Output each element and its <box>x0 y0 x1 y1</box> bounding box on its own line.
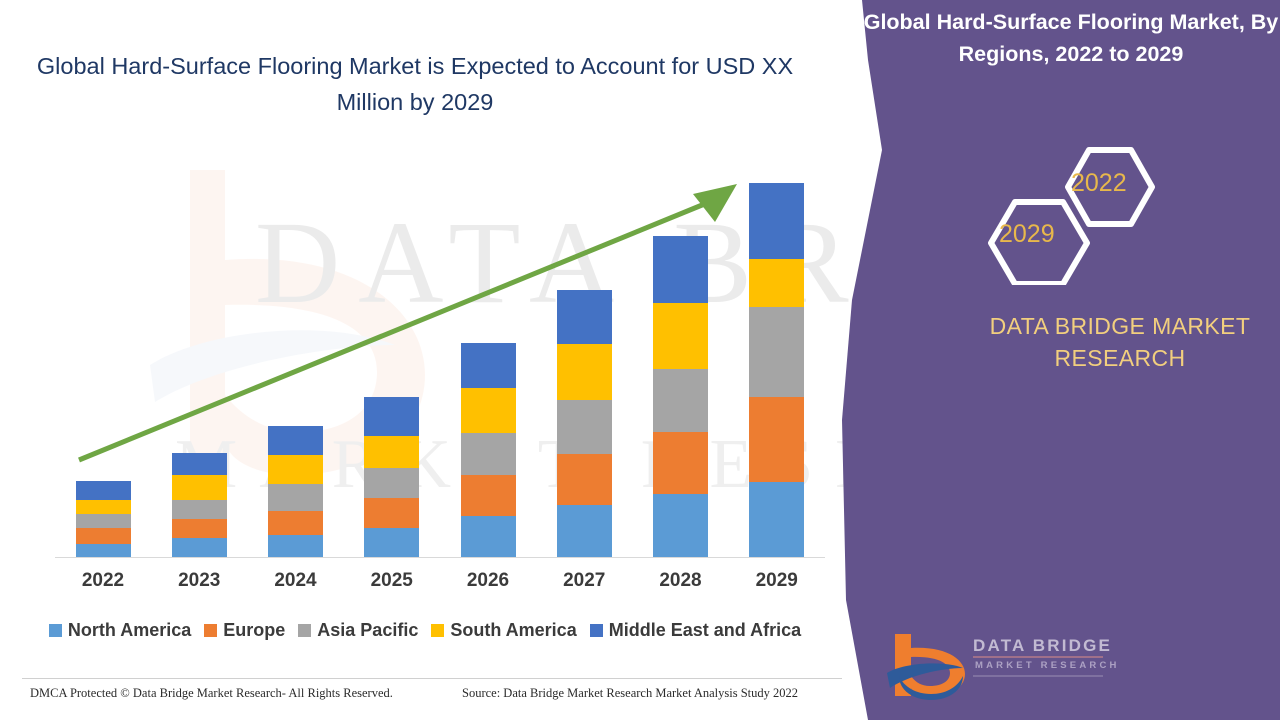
hexagon-badges: 2022 2029 <box>985 140 1185 285</box>
footer-divider <box>22 678 842 679</box>
bar-segment <box>364 468 419 497</box>
brand-name: DATA BRIDGE MARKET RESEARCH <box>960 310 1280 374</box>
bar-segment <box>76 514 131 528</box>
infographic-canvas: DATA BRIDGE MARKET RESEARCH Global Hard-… <box>0 0 1280 720</box>
legend-swatch <box>431 624 444 637</box>
bar-segment <box>653 369 708 432</box>
legend-item[interactable]: Asia Pacific <box>298 620 418 641</box>
bar-column <box>364 397 419 558</box>
x-axis-label: 2023 <box>151 570 247 592</box>
bar-segment <box>461 433 516 475</box>
bar-segment <box>557 400 612 454</box>
x-axis-line <box>55 557 825 558</box>
bar-segment <box>364 397 419 436</box>
bar-column <box>653 236 708 558</box>
bar-segment <box>461 475 516 515</box>
x-axis-label: 2024 <box>248 570 344 592</box>
panel-title: Global Hard-Surface Flooring Market, By … <box>862 6 1280 70</box>
bar-segment <box>653 303 708 369</box>
bar-segment <box>268 455 323 484</box>
legend-item[interactable]: Middle East and Africa <box>590 620 801 641</box>
chart-legend: North AmericaEuropeAsia PacificSouth Ame… <box>0 615 850 645</box>
bar-column <box>749 183 804 558</box>
x-axis-label: 2029 <box>729 570 825 592</box>
bar-segment <box>653 236 708 304</box>
bar-segment <box>76 544 131 558</box>
bar-segment <box>461 516 516 558</box>
bar-segment <box>268 511 323 535</box>
bar-segment <box>653 432 708 493</box>
bar-column <box>268 426 323 558</box>
legend-swatch <box>49 624 62 637</box>
bar-segment <box>172 500 227 519</box>
legend-item[interactable]: North America <box>49 620 191 641</box>
legend-label: North America <box>68 620 191 641</box>
bar-segment <box>76 500 131 514</box>
logo-text-sub: MARKET RESEARCH <box>975 660 1120 671</box>
bar-segment <box>268 426 323 455</box>
bar-segment <box>749 183 804 259</box>
bar-column <box>461 343 516 558</box>
bar-segment <box>557 505 612 558</box>
legend-label: Europe <box>223 620 285 641</box>
legend-swatch <box>204 624 217 637</box>
hex-badge-lower-label: 2029 <box>999 220 1055 249</box>
bar-segment <box>76 481 131 499</box>
bar-segment <box>364 498 419 528</box>
bar-segment <box>172 538 227 558</box>
brand-logo: DATA BRIDGE MARKET RESEARCH <box>885 630 1115 700</box>
legend-item[interactable]: Europe <box>204 620 285 641</box>
bar-segment <box>172 475 227 499</box>
bar-segment <box>749 259 804 307</box>
bar-segment <box>268 535 323 558</box>
bar-segment <box>557 344 612 399</box>
bar-segment <box>461 388 516 433</box>
legend-swatch <box>298 624 311 637</box>
bar-segment <box>364 436 419 468</box>
logo-text-main: DATA BRIDGE <box>973 636 1112 656</box>
footer-source: Source: Data Bridge Market Research Mark… <box>462 686 798 701</box>
plot-area <box>55 175 825 558</box>
bar-segment <box>172 519 227 538</box>
x-axis-label: 2025 <box>344 570 440 592</box>
bar-segment <box>461 343 516 387</box>
bar-segment <box>364 528 419 558</box>
legend-label: South America <box>450 620 576 641</box>
bar-segment <box>749 397 804 483</box>
hex-badge-upper-label: 2022 <box>1071 169 1127 198</box>
legend-item[interactable]: South America <box>431 620 576 641</box>
bar-column <box>172 453 227 558</box>
bar-column <box>557 290 612 558</box>
chart <box>0 0 860 600</box>
bar-segment <box>653 494 708 559</box>
x-axis-label: 2028 <box>633 570 729 592</box>
bar-segment <box>76 528 131 544</box>
x-axis-label: 2027 <box>536 570 632 592</box>
bar-segment <box>557 454 612 504</box>
bar-segment <box>749 307 804 397</box>
bar-segment <box>557 290 612 344</box>
hexagon-outline-icon <box>985 140 1185 285</box>
bar-column <box>76 481 131 558</box>
x-axis-label: 2026 <box>440 570 536 592</box>
bar-segment <box>268 484 323 510</box>
legend-label: Middle East and Africa <box>609 620 801 641</box>
legend-label: Asia Pacific <box>317 620 418 641</box>
footer-copyright: DMCA Protected © Data Bridge Market Rese… <box>30 686 393 701</box>
legend-swatch <box>590 624 603 637</box>
x-axis-labels: 20222023202420252026202720282029 <box>55 570 825 604</box>
bar-segment <box>172 453 227 475</box>
bar-segment <box>749 482 804 558</box>
x-axis-label: 2022 <box>55 570 151 592</box>
